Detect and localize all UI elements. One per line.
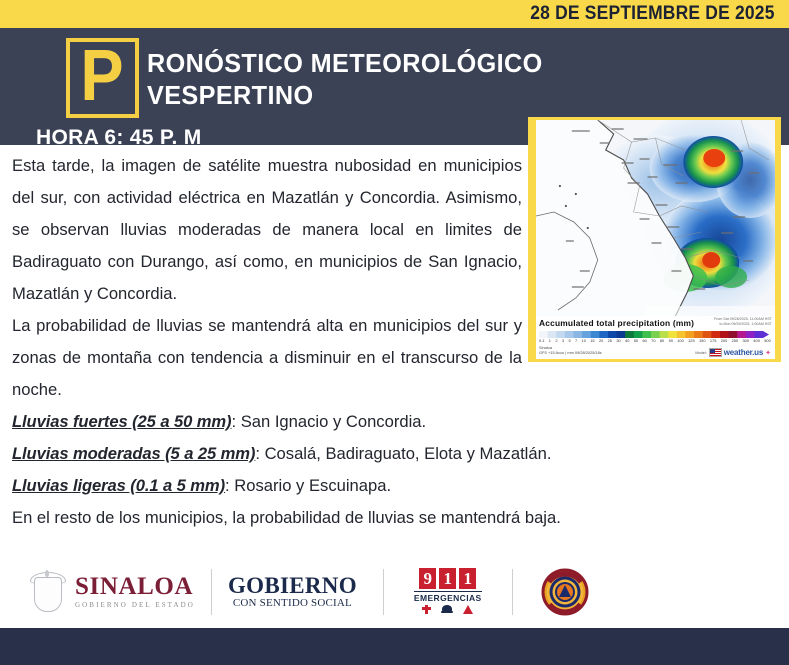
paragraph-2: La probabilidad de lluvias se mantendrá …: [12, 310, 522, 406]
poster-title: RONÓSTICO METEOROLÓGICO VESPERTINO: [147, 47, 567, 111]
911-emergencias-label: EMERGENCIAS: [414, 591, 482, 603]
legend-tick: 125: [688, 338, 695, 344]
forecast-date: 28 DE SEPTIEMBRE DE 2025: [531, 3, 775, 25]
weather-forecast-poster: 28 DE SEPTIEMBRE DE 2025 P RONÓSTICO MET…: [0, 0, 789, 665]
legend-colorbar: [539, 331, 769, 338]
us-flag-icon: [709, 348, 722, 357]
logo-divider-1: [211, 569, 212, 615]
gobierno-title: GOBIERNO: [228, 574, 357, 597]
sinaloa-subtitle: GOBIERNO DEL ESTADO: [75, 600, 195, 610]
legend-tick: 1: [549, 338, 551, 344]
legend-model-stamp: GFS +15 Accu | mm 09/28/2025/18z: [539, 350, 602, 355]
weather-us-mark-icon: ✦: [765, 349, 771, 357]
legend-tick: 175: [710, 338, 717, 344]
legend-source: Model: weather.us ✦: [695, 348, 771, 357]
p-monogram-logo: P: [66, 38, 139, 118]
legend-run-stamp: From Sat 09/28/2025, 11:00AM HST to Mon …: [714, 317, 772, 327]
legend-tick: 150: [699, 338, 706, 344]
legend-tick: 300: [743, 338, 750, 344]
precipitation-map-svg: [536, 120, 775, 316]
legend-tick: 2: [555, 338, 557, 344]
legend-tick: 7: [575, 338, 577, 344]
legend-tick: 10: [582, 338, 586, 344]
logo-divider-2: [383, 569, 384, 615]
weather-us-logo: weather.us: [724, 348, 763, 357]
bottom-bar: [0, 628, 789, 665]
rain-level-moderate: Lluvias moderadas (5 a 25 mm): Cosalá, B…: [12, 438, 754, 470]
footer-logo-strip: SINALOA GOBIERNO DEL ESTADO GOBIERNO CON…: [0, 555, 789, 628]
precipitation-map-image: [536, 120, 775, 316]
legend-tick: 50: [634, 338, 638, 344]
sinaloa-state-seal-icon: [28, 569, 66, 615]
precipitation-map-inner: Accumulated total precipitation (mm) Fro…: [536, 120, 775, 359]
legend-tick: 70: [651, 338, 655, 344]
legend-tick: 3: [562, 338, 564, 344]
legend-tick: 20: [599, 338, 603, 344]
legend-tick: 200: [721, 338, 728, 344]
police-hat-icon: [442, 605, 452, 613]
legend-tick: 0.1: [539, 338, 544, 344]
legend-tick: 80: [660, 338, 664, 344]
medical-cross-icon: [422, 605, 431, 614]
poster-body: Esta tarde, la imagen de satélite muestr…: [0, 145, 789, 628]
legend-tick: 30: [616, 338, 620, 344]
rain-level-heavy: Lluvias fuertes (25 a 50 mm): San Ignaci…: [12, 406, 754, 438]
sinaloa-wordmark: SINALOA GOBIERNO DEL ESTADO: [75, 574, 195, 610]
rain-level-light: Lluvias ligeras (0.1 a 5 mm): Rosario y …: [12, 470, 754, 502]
title-line-1: RONÓSTICO METEOROLÓGICO: [147, 47, 554, 79]
title-line-2: VESPERTINO: [147, 79, 554, 111]
paragraph-1: Esta tarde, la imagen de satélite muestr…: [12, 150, 522, 310]
gobierno-subtitle: CON SENTIDO SOCIAL: [233, 597, 352, 610]
rain-level-light-value: : Rosario y Escuinapa.: [225, 476, 391, 495]
legend-tick-labels: 0.11235710152025304050607080901001251501…: [539, 338, 771, 344]
emergency-911-logo: 9 1 1 EMERGENCIAS: [414, 568, 482, 616]
legend-tick: 400: [753, 338, 760, 344]
911-digits: 9 1 1: [419, 568, 476, 589]
sinaloa-government-logo: SINALOA GOBIERNO DEL ESTADO: [0, 568, 195, 616]
gobierno-logo: GOBIERNO CON SENTIDO SOCIAL: [228, 568, 357, 616]
rain-level-moderate-label: Lluvias moderadas (5 a 25 mm): [12, 444, 255, 463]
legend-tick: 100: [677, 338, 684, 344]
precipitation-map-panel: Accumulated total precipitation (mm) Fro…: [528, 117, 781, 362]
911-service-icons: [422, 605, 473, 614]
p-letter: P: [81, 45, 124, 107]
rain-level-light-label: Lluvias ligeras (0.1 a 5 mm): [12, 476, 225, 495]
civil-protection-logo: [541, 568, 589, 616]
run-stamp-line-2: to Mon 09/29/2025, 1:00AM HST: [714, 322, 772, 327]
sinaloa-title: SINALOA: [75, 574, 195, 600]
rain-level-heavy-value: : San Ignacio y Concordia.: [231, 412, 426, 431]
911-digit-1: 9: [419, 568, 436, 589]
rain-level-heavy-label: Lluvias fuertes (25 a 50 mm): [12, 412, 231, 431]
legend-tick: 90: [669, 338, 673, 344]
model-prefix-label: Model:: [695, 351, 706, 355]
legend-tick: 5: [568, 338, 570, 344]
legend-tick: 25: [608, 338, 612, 344]
rain-level-moderate-value: : Cosalá, Badiraguato, Elota y Mazatlán.: [255, 444, 551, 463]
legend-tick: 250: [732, 338, 739, 344]
legend-tick: 500: [764, 338, 771, 344]
civil-protection-triangle-icon: [463, 605, 473, 614]
logo-divider-3: [512, 569, 513, 615]
legend-tick: 60: [642, 338, 646, 344]
legend-footer: SinaloaGFS +15 Accu | mm 09/28/2025/18z …: [539, 345, 773, 357]
date-bar: 28 DE SEPTIEMBRE DE 2025: [0, 0, 789, 28]
legend-tick: 40: [625, 338, 629, 344]
civil-protection-emblem-icon: [541, 568, 589, 616]
911-digit-2: 1: [439, 568, 456, 589]
closing-statement: En el resto de los municipios, la probab…: [12, 502, 754, 534]
map-legend: Accumulated total precipitation (mm) Fro…: [536, 316, 775, 359]
legend-tick: 15: [590, 338, 594, 344]
911-digit-3: 1: [459, 568, 476, 589]
